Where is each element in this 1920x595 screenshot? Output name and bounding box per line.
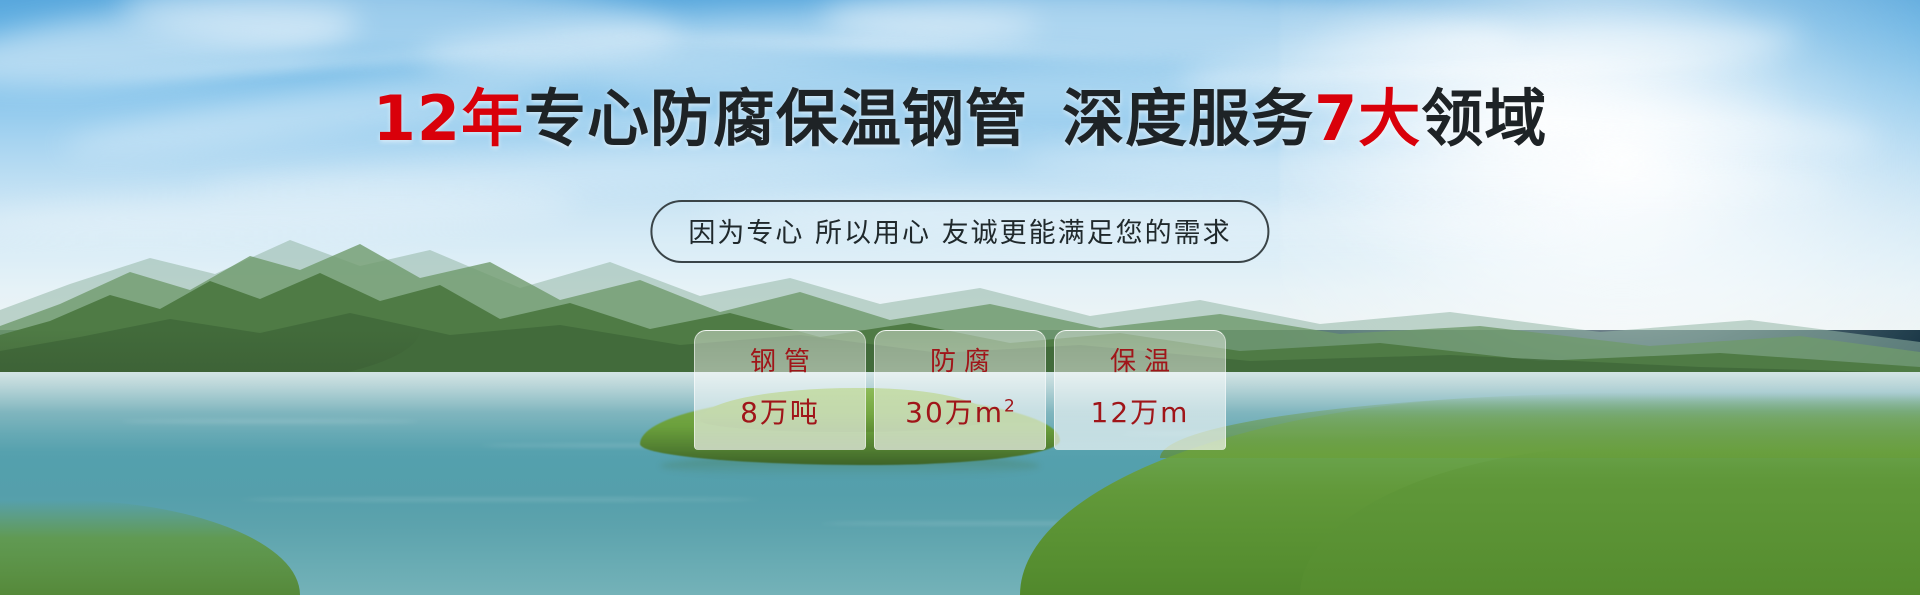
stat-card-value: 30万m2	[905, 396, 1015, 430]
banner-content: 12年专心防腐保温钢管深度服务7大领域 因为专心 所以用心 友诚更能满足您的需求…	[0, 0, 1920, 595]
stat-card-value: 8万吨	[740, 396, 820, 430]
stat-card-title: 钢管	[742, 347, 818, 378]
headline-years: 12年	[373, 82, 524, 155]
stat-card-title: 防腐	[922, 347, 998, 378]
stat-card-insulation[interactable]: 保温 12万m	[1054, 330, 1226, 450]
stat-card-title: 保温	[1102, 347, 1178, 378]
hero-banner: 12年专心防腐保温钢管深度服务7大领域 因为专心 所以用心 友诚更能满足您的需求…	[0, 0, 1920, 595]
headline-main-text: 专心防腐保温钢管	[524, 82, 1028, 155]
headline-fields-text: 领域	[1421, 82, 1547, 155]
stat-card-value-base: 12万m	[1091, 396, 1190, 429]
page-title: 12年专心防腐保温钢管深度服务7大领域	[0, 88, 1920, 150]
stat-card-value-superscript: 2	[1004, 397, 1015, 417]
stat-card-value-base: 8万吨	[740, 396, 820, 429]
subtitle-text: 因为专心 所以用心 友诚更能满足您的需求	[688, 218, 1231, 249]
stat-card-steel-pipe[interactable]: 钢管 8万吨	[694, 330, 866, 450]
stat-card-value-base: 30万m	[905, 396, 1004, 429]
stat-card-value: 12万m	[1091, 396, 1190, 430]
headline-service-text: 深度服务	[1062, 82, 1314, 155]
stat-card-anticorrosion[interactable]: 防腐 30万m2	[874, 330, 1046, 450]
subtitle-pill: 因为专心 所以用心 友诚更能满足您的需求	[650, 200, 1269, 263]
headline-seven-fields: 7大	[1314, 82, 1421, 155]
stat-card-group: 钢管 8万吨 防腐 30万m2 保温 12万m	[694, 330, 1226, 450]
